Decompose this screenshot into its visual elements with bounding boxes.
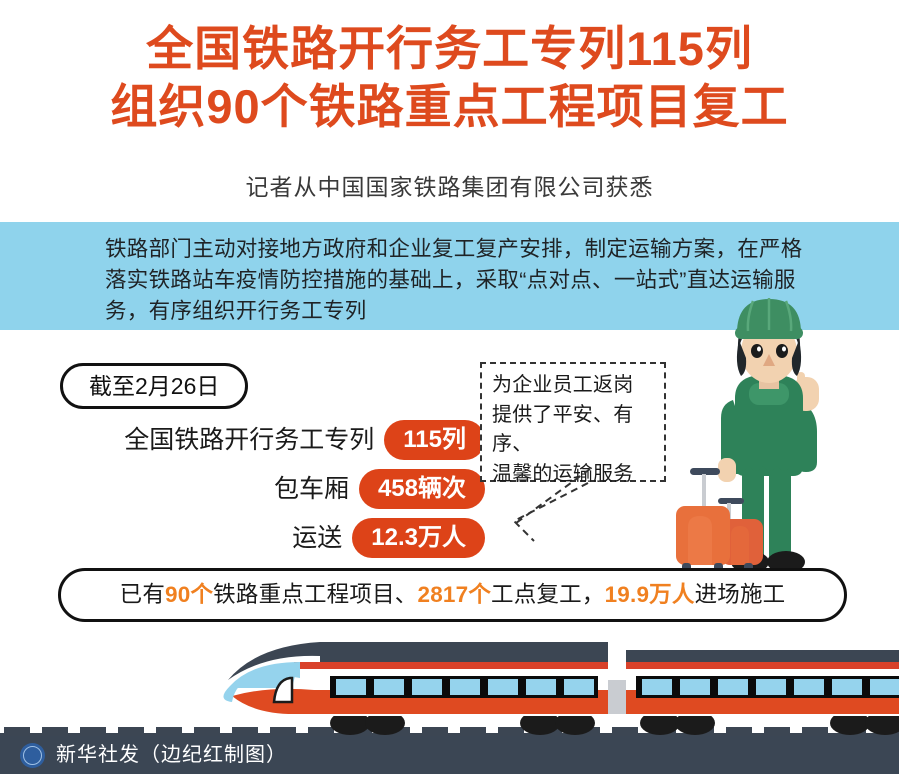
stat-label: 包车厢 (274, 472, 349, 506)
stat-label: 全国铁路开行务工专列 (124, 423, 374, 457)
subtitle: 记者从中国国家铁路集团有限公司获悉 (0, 172, 899, 202)
title-line-1: 全国铁路开行务工专列115列 (0, 20, 899, 78)
stat-row: 全国铁路开行务工专列 115列 (55, 420, 485, 460)
train-car-rear (608, 650, 899, 735)
bottom-seg-2: 铁路重点工程项目、 (213, 582, 417, 607)
bottom-seg-3: 2817个 (417, 582, 491, 607)
title-line-2: 组织90个铁路重点工程项目复工 (0, 78, 899, 136)
stat-label: 运送 (292, 521, 342, 555)
speech-bubble-tail (470, 455, 610, 565)
bottom-summary-text: 已有90个铁路重点工程项目、2817个工点复工，19.9万人进场施工 (120, 582, 786, 608)
stat-value-badge: 115列 (384, 420, 485, 460)
track-dashes (4, 727, 899, 733)
bottom-seg-0: 已有 (120, 582, 165, 607)
footer-credit: 新华社发（边纪红制图） (56, 743, 287, 767)
bottom-summary-bar: 已有90个铁路重点工程项目、2817个工点复工，19.9万人进场施工 (58, 568, 847, 622)
stat-row: 包车厢 458辆次 (55, 469, 485, 509)
stats-list: 全国铁路开行务工专列 115列 包车厢 458辆次 运送 12.3万人 (55, 420, 485, 567)
bottom-seg-6: 进场施工 (695, 582, 786, 607)
xinhua-emblem-icon (20, 743, 45, 768)
stat-row: 运送 12.3万人 (55, 518, 485, 558)
luggage-group (676, 468, 763, 571)
page-title: 全国铁路开行务工专列115列 组织90个铁路重点工程项目复工 (0, 20, 899, 136)
bottom-seg-1: 90个 (165, 582, 213, 607)
speech-bubble-line-2: 提供了平安、有序、 (492, 401, 668, 460)
stat-value-badge: 458辆次 (359, 469, 485, 509)
summary-banner-text: 铁路部门主动对接地方政府和企业复工复产安排，制定运输方案，在严格落实铁路站车疫情… (105, 234, 815, 327)
bottom-seg-4: 工点复工， (491, 582, 605, 607)
train-car-front (210, 642, 608, 735)
stat-value-badge: 12.3万人 (352, 518, 485, 558)
speech-bubble-line-1: 为企业员工返岗 (492, 371, 668, 401)
footer-bar: 新华社发（边纪红制图） (0, 736, 899, 774)
infographic-root: 全国铁路开行务工专列115列 组织90个铁路重点工程项目复工 记者从中国国家铁路… (0, 0, 899, 774)
character-figure (718, 298, 819, 573)
bottom-seg-5: 19.9万人 (605, 582, 695, 607)
date-pill: 截至2月26日 (60, 363, 248, 409)
